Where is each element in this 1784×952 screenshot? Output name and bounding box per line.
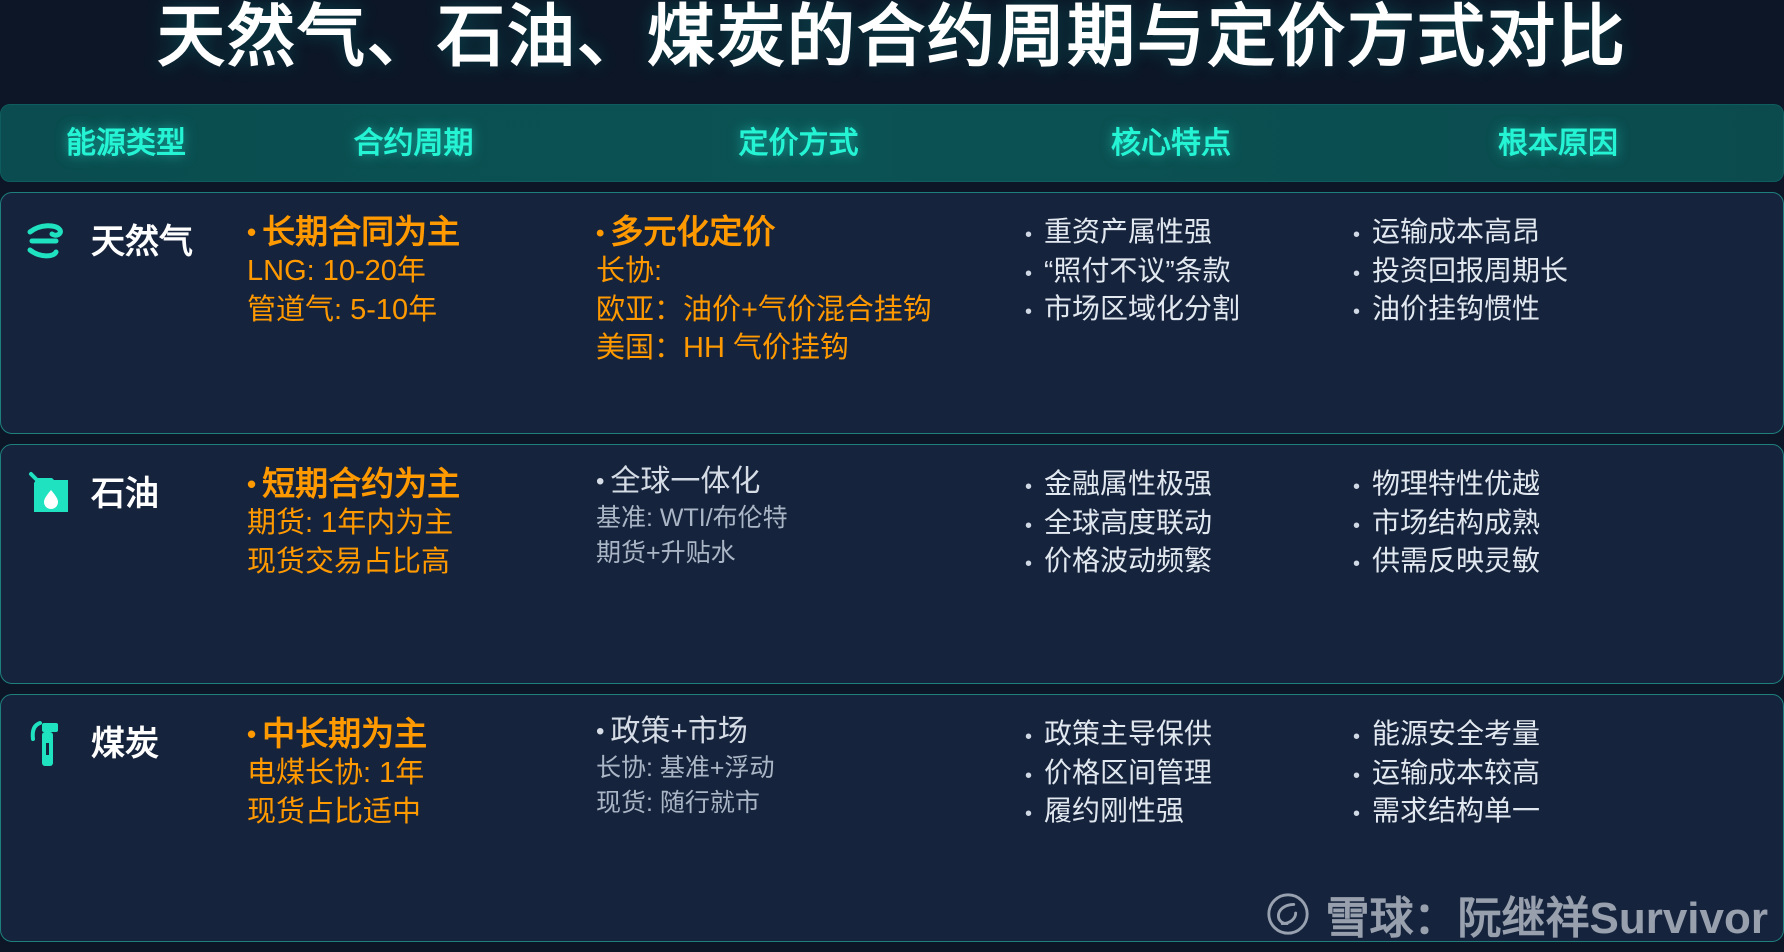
- contract-cycle-sub: 电煤长协: 1年: [247, 754, 578, 792]
- table-header-row: 能源类型 合约周期 定价方式 核心特点 根本原因: [0, 104, 1784, 182]
- title-bar: 天然气、石油、煤炭的合约周期与定价方式对比: [0, 0, 1784, 100]
- list-item: •重资产属性强: [1025, 213, 1323, 252]
- pricing-method-cell-oil: •全球一体化 基准: WTI/布伦特 期货+升贴水: [586, 445, 1011, 683]
- oil-can-icon: [25, 467, 77, 521]
- contract-cycle-sub: 管道气: 5-10年: [247, 291, 578, 329]
- bullet-dot-icon: •: [1353, 766, 1360, 786]
- list-item: •运输成本较高: [1353, 754, 1777, 793]
- bullet-dot-icon: •: [1025, 302, 1032, 322]
- root-cause-cell-oil: •物理特性优越 •市场结构成熟 •供需反映灵敏: [1331, 445, 1784, 683]
- energy-type-cell-oil: 石油: [1, 445, 241, 683]
- bullet-dot-icon: •: [1025, 516, 1032, 536]
- pricing-sub: 欧亚：油价+气价混合挂钩: [596, 291, 1003, 329]
- pricing-sub: 长协: 基准+浮动: [596, 751, 1003, 786]
- contract-cycle-lead: •长期合同为主: [247, 211, 578, 252]
- list-item: •“照付不议”条款: [1025, 252, 1323, 291]
- bullet-dot-icon: •: [596, 220, 604, 247]
- bullet-dot-icon: •: [1025, 727, 1032, 747]
- core-features-cell-natural-gas: •重资产属性强 •“照付不议”条款 •市场区域化分割: [1011, 193, 1331, 433]
- list-item: •履约刚性强: [1025, 792, 1323, 831]
- bullet-dot-icon: •: [247, 719, 256, 749]
- contract-cycle-sub: 现货交易占比高: [247, 543, 578, 581]
- energy-type-label: 煤炭: [91, 717, 159, 771]
- list-item: •政策主导保供: [1025, 715, 1323, 754]
- column-header-contract-cycle: 合约周期: [241, 105, 586, 183]
- bullet-dot-icon: •: [1353, 727, 1360, 747]
- energy-type-cell-natural-gas: 天然气: [1, 193, 241, 433]
- page-title: 天然气、石油、煤炭的合约周期与定价方式对比: [157, 3, 1627, 71]
- list-item: •需求结构单一: [1353, 792, 1777, 831]
- column-header-pricing-method: 定价方式: [586, 105, 1011, 183]
- bullet-dot-icon: •: [1353, 264, 1360, 284]
- pricing-sub: 美国：HH 气价挂钩: [596, 329, 1003, 367]
- contract-cycle-sub: 现货占比适中: [247, 793, 578, 831]
- list-item: •市场区域化分割: [1025, 290, 1323, 329]
- contract-cycle-cell-coal: •中长期为主 电煤长协: 1年 现货占比适中: [241, 695, 586, 941]
- list-item: •能源安全考量: [1353, 715, 1777, 754]
- contract-cycle-cell-oil: •短期合约为主 期货: 1年内为主 现货交易占比高: [241, 445, 586, 683]
- bullet-dot-icon: •: [1025, 766, 1032, 786]
- pricing-method-cell-coal: •政策+市场 长协: 基准+浮动 现货: 随行就市: [586, 695, 1011, 941]
- contract-cycle-sub: LNG: 10-20年: [247, 252, 578, 290]
- core-features-cell-coal: •政策主导保供 •价格区间管理 •履约刚性强: [1011, 695, 1331, 941]
- root-cause-cell-coal: •能源安全考量 •运输成本较高 •需求结构单一: [1331, 695, 1784, 941]
- list-item: •金融属性极强: [1025, 465, 1323, 504]
- bullet-dot-icon: •: [1353, 554, 1360, 574]
- bullet-dot-icon: •: [1353, 225, 1360, 245]
- table-row: 天然气 •长期合同为主 LNG: 10-20年 管道气: 5-10年 •多元化定…: [0, 192, 1784, 434]
- list-item: •全球高度联动: [1025, 504, 1323, 543]
- bullet-dot-icon: •: [1353, 516, 1360, 536]
- bullet-dot-icon: •: [596, 718, 604, 745]
- core-features-list: •政策主导保供 •价格区间管理 •履约刚性强: [1019, 713, 1323, 831]
- list-item: •供需反映灵敏: [1353, 542, 1777, 581]
- list-item: •投资回报周期长: [1353, 252, 1777, 291]
- comparison-board: 天然气、石油、煤炭的合约周期与定价方式对比 能源类型 合约周期 定价方式 核心特…: [0, 0, 1784, 952]
- pricing-sub: 基准: WTI/布伦特: [596, 501, 1003, 536]
- bullet-dot-icon: •: [596, 468, 604, 495]
- table-row: 石油 •短期合约为主 期货: 1年内为主 现货交易占比高 •全球一体化 基准: …: [0, 444, 1784, 684]
- bullet-dot-icon: •: [247, 217, 256, 247]
- list-item: •物理特性优越: [1353, 465, 1777, 504]
- core-features-cell-oil: •金融属性极强 •全球高度联动 •价格波动频繁: [1011, 445, 1331, 683]
- energy-type-cell-coal: 煤炭: [1, 695, 241, 941]
- contract-cycle-lead: •中长期为主: [247, 713, 578, 754]
- list-item: •运输成本高昂: [1353, 213, 1777, 252]
- pricing-method-cell-natural-gas: •多元化定价 长协: 欧亚：油价+气价混合挂钩 美国：HH 气价挂钩: [586, 193, 1011, 433]
- column-header-energy-type: 能源类型: [1, 105, 241, 183]
- pricing-lead: •政策+市场: [596, 713, 1003, 751]
- bullet-dot-icon: •: [1353, 477, 1360, 497]
- pricing-lead: •全球一体化: [596, 463, 1003, 501]
- gas-wind-icon: [25, 215, 77, 269]
- energy-type-label: 天然气: [91, 215, 193, 269]
- pricing-lead: •多元化定价: [596, 211, 1003, 252]
- list-item: •油价挂钩惯性: [1353, 290, 1777, 329]
- column-header-root-cause: 根本原因: [1331, 105, 1784, 183]
- list-item: •价格区间管理: [1025, 754, 1323, 793]
- root-cause-list: •物理特性优越 •市场结构成熟 •供需反映灵敏: [1339, 463, 1777, 581]
- bullet-dot-icon: •: [1025, 225, 1032, 245]
- list-item: •市场结构成熟: [1353, 504, 1777, 543]
- bullet-dot-icon: •: [1025, 477, 1032, 497]
- bullet-dot-icon: •: [247, 469, 256, 499]
- root-cause-cell-natural-gas: •运输成本高昂 •投资回报周期长 •油价挂钩惯性: [1331, 193, 1784, 433]
- coal-canister-icon: [25, 717, 77, 771]
- pricing-sub: 期货+升贴水: [596, 536, 1003, 571]
- bullet-dot-icon: •: [1353, 302, 1360, 322]
- energy-type-label: 石油: [91, 467, 159, 521]
- core-features-list: •金融属性极强 •全球高度联动 •价格波动频繁: [1019, 463, 1323, 581]
- column-header-core-features: 核心特点: [1011, 105, 1331, 183]
- table-row: 煤炭 •中长期为主 电煤长协: 1年 现货占比适中 •政策+市场 长协: 基准+…: [0, 694, 1784, 942]
- contract-cycle-cell-natural-gas: •长期合同为主 LNG: 10-20年 管道气: 5-10年: [241, 193, 586, 433]
- contract-cycle-sub: 期货: 1年内为主: [247, 504, 578, 542]
- bullet-dot-icon: •: [1353, 804, 1360, 824]
- bullet-dot-icon: •: [1025, 804, 1032, 824]
- list-item: •价格波动频繁: [1025, 542, 1323, 581]
- root-cause-list: •运输成本高昂 •投资回报周期长 •油价挂钩惯性: [1339, 211, 1777, 329]
- bullet-dot-icon: •: [1025, 264, 1032, 284]
- pricing-sub: 长协:: [596, 252, 1003, 290]
- contract-cycle-lead: •短期合约为主: [247, 463, 578, 504]
- root-cause-list: •能源安全考量 •运输成本较高 •需求结构单一: [1339, 713, 1777, 831]
- pricing-sub: 现货: 随行就市: [596, 786, 1003, 821]
- bullet-dot-icon: •: [1025, 554, 1032, 574]
- core-features-list: •重资产属性强 •“照付不议”条款 •市场区域化分割: [1019, 211, 1323, 329]
